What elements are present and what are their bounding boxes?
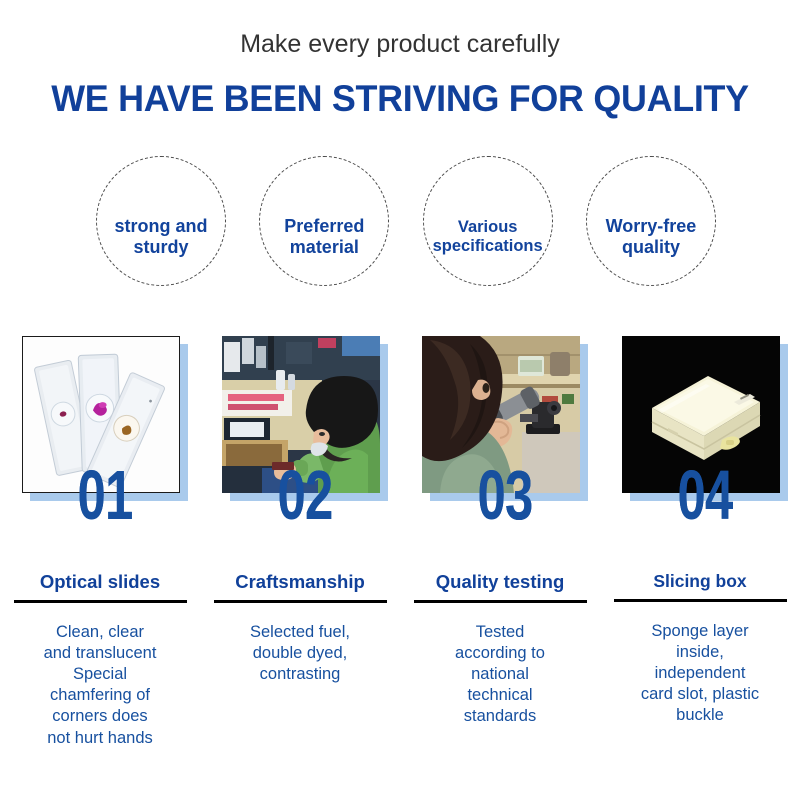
title-rule [14, 600, 187, 603]
feature-circle-1: strong and sturdy [96, 156, 226, 286]
feature-circle-2: Preferred material [259, 156, 389, 286]
card-description: Selected fuel, double dyed, contrasting [210, 622, 390, 685]
card-description: Sponge layer inside, independent card sl… [610, 621, 790, 727]
title-rule [414, 600, 587, 603]
card-title: Craftsmanship [204, 571, 396, 593]
feature-circle-label: Preferred material [260, 216, 388, 258]
feature-circle-label: Worry-free quality [587, 216, 715, 258]
page-title: WE HAVE BEEN STRIVING FOR QUALITY [12, 78, 788, 120]
product-card-1: 01 Optical slides Clean, clear and trans… [0, 336, 200, 749]
product-card-row: 01 Optical slides Clean, clear and trans… [0, 336, 800, 749]
title-rule [614, 599, 787, 602]
feature-circle-3: Various specifications [423, 156, 553, 286]
thumb-wrap: 04 [622, 336, 780, 493]
feature-circle-4: Worry-free quality [586, 156, 716, 286]
card-title: Slicing box [604, 571, 796, 592]
page-subtitle: Make every product carefully [0, 30, 800, 59]
feature-circle-label: strong and sturdy [97, 216, 225, 258]
thumb-wrap: 03 [422, 336, 580, 493]
card-number: 01 [37, 462, 173, 531]
feature-circle-row: strong and sturdy Preferred material Var… [96, 156, 716, 288]
product-card-4: 04 Slicing box Sponge layer inside, inde… [600, 336, 800, 749]
card-number: 03 [437, 462, 573, 531]
card-number: 02 [237, 462, 373, 531]
thumb-wrap: 01 [22, 336, 180, 493]
product-card-2: 02 Craftsmanship Selected fuel, double d… [200, 336, 400, 749]
title-rule [214, 600, 387, 603]
thumb-wrap: 02 [222, 336, 380, 493]
card-title: Quality testing [404, 571, 596, 593]
card-number: 04 [637, 462, 773, 531]
card-description: Clean, clear and translucent Special cha… [10, 622, 190, 749]
product-card-3: 03 Quality testing Tested according to n… [400, 336, 600, 749]
card-title: Optical slides [4, 571, 196, 593]
feature-circle-label: Various specifications [424, 218, 552, 256]
promo-banner: Make every product carefully WE HAVE BEE… [0, 0, 800, 800]
card-description: Tested according to national technical s… [410, 622, 590, 728]
